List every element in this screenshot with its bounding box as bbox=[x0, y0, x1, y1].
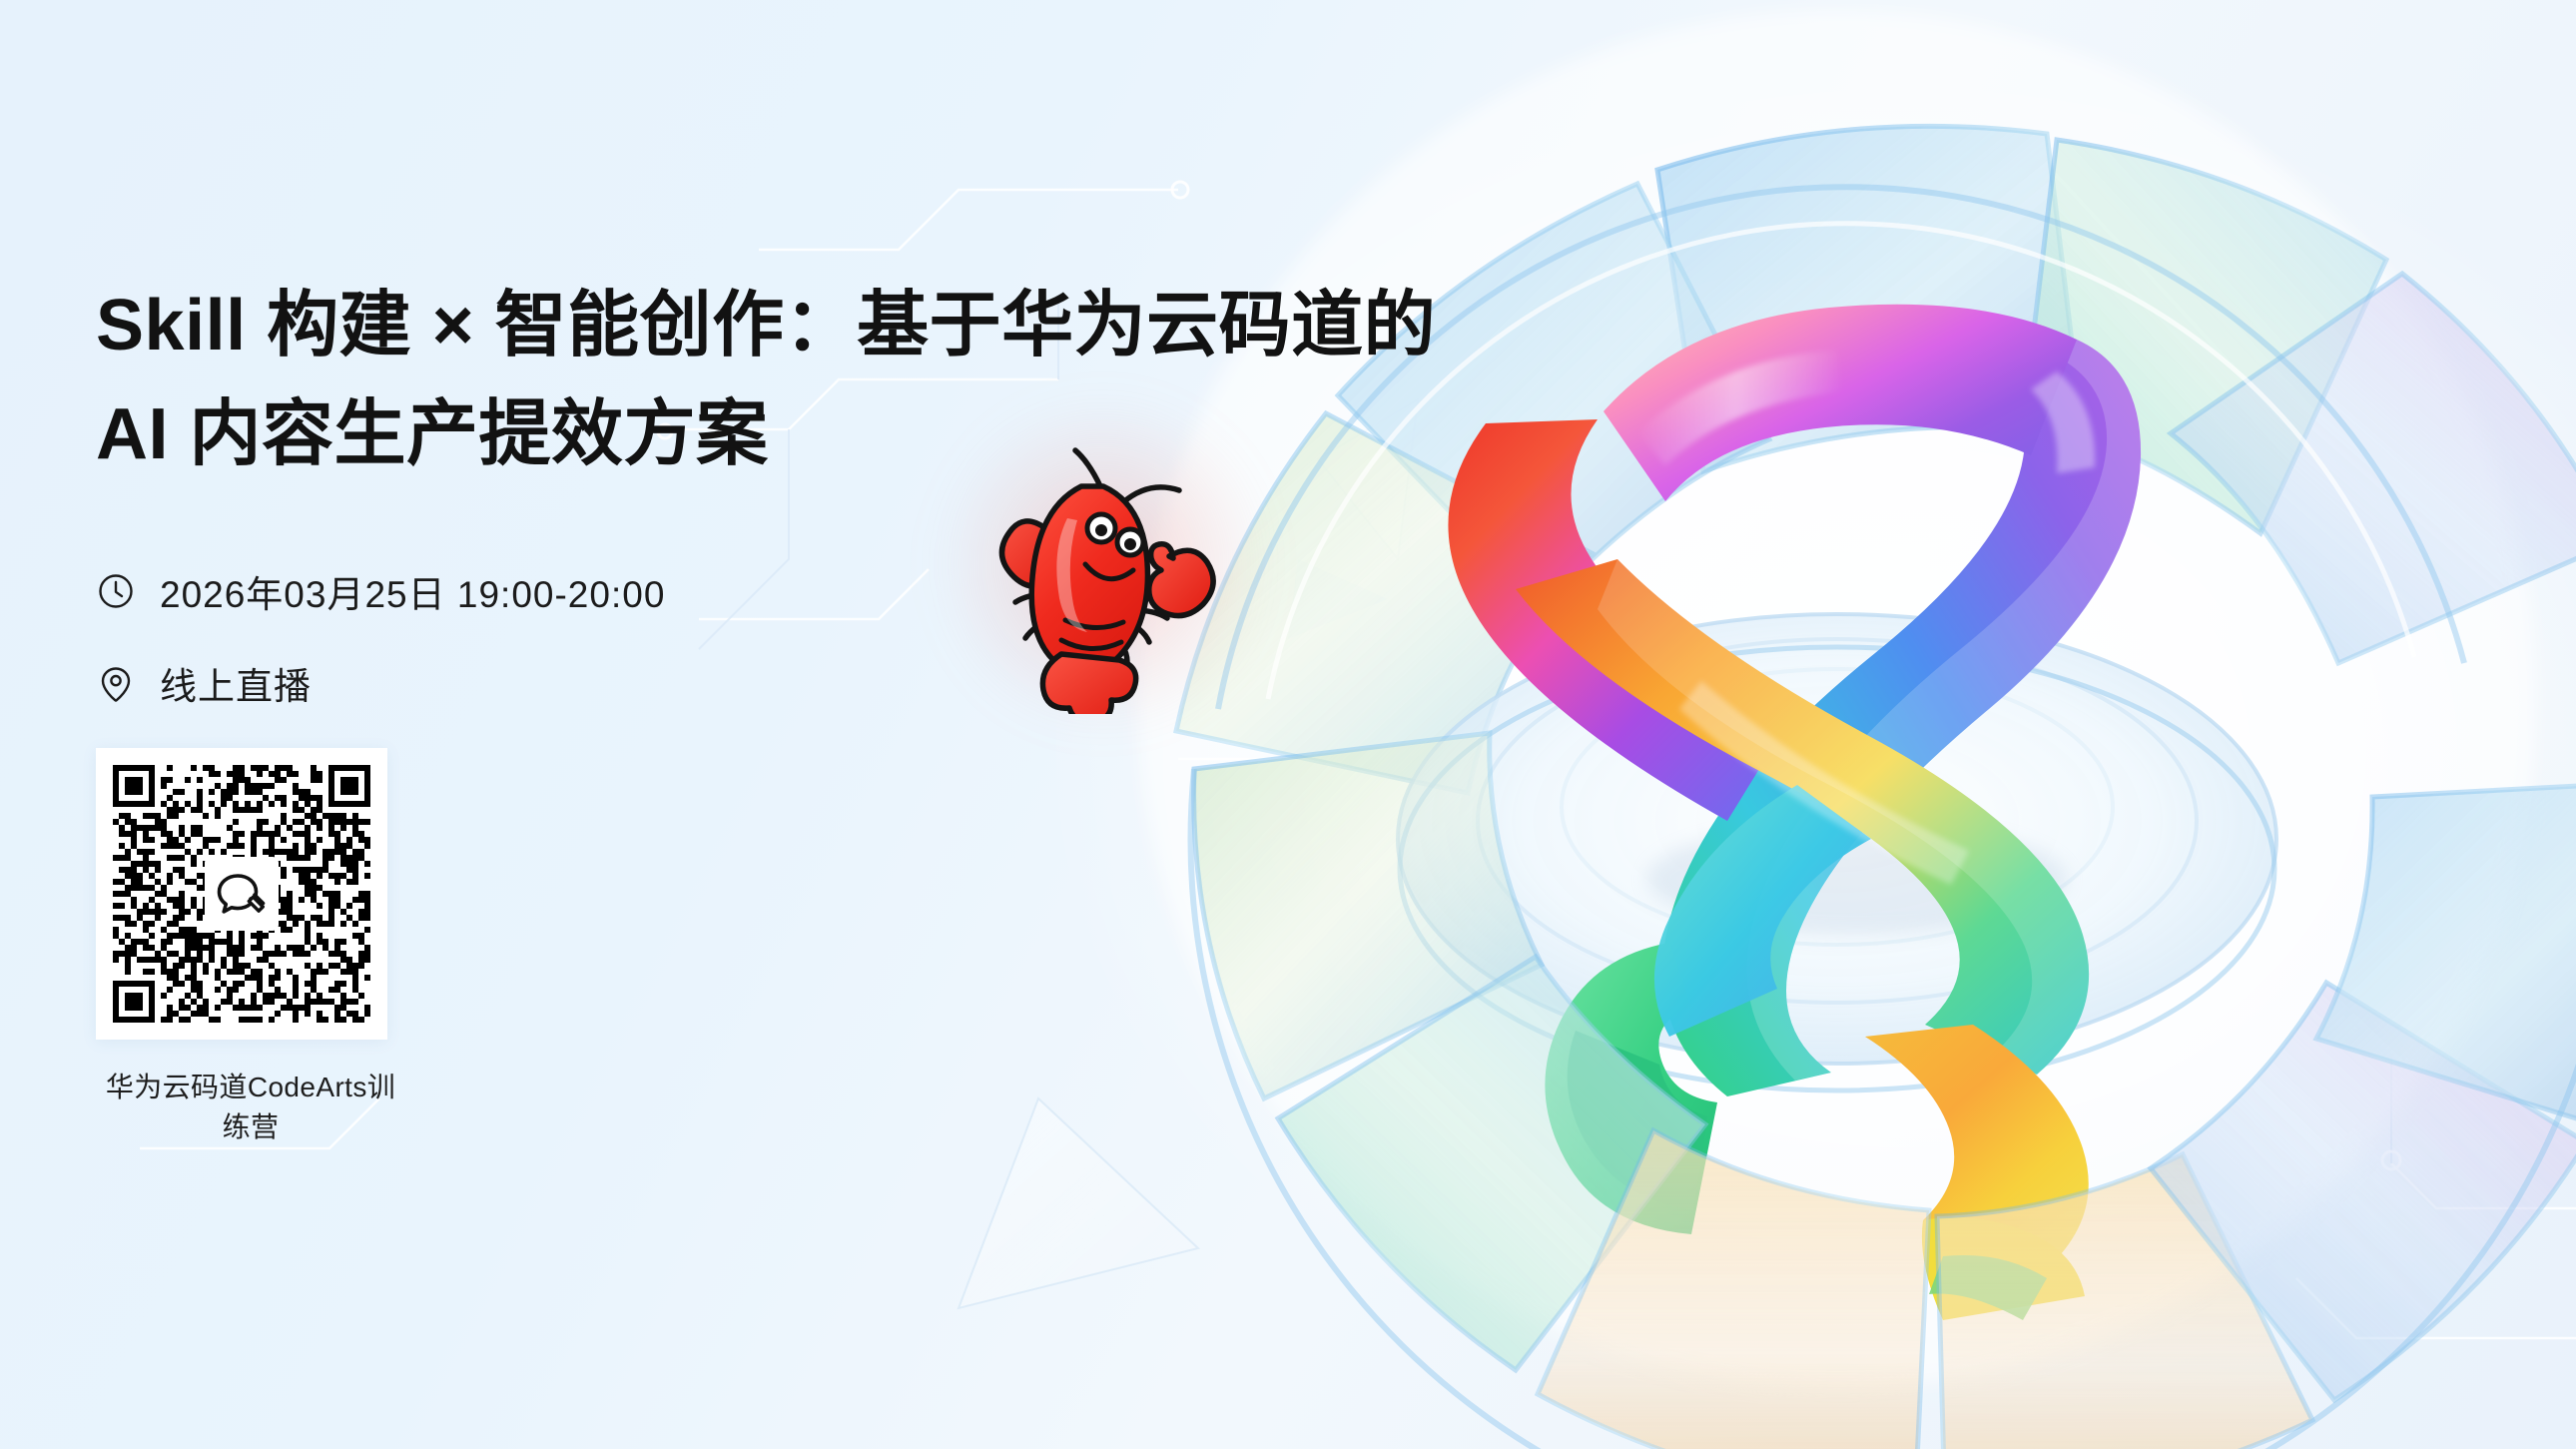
event-meta: 2026年03月25日 19:00-20:00 线上直播 bbox=[96, 564, 1424, 710]
event-location-row: 线上直播 bbox=[96, 656, 1424, 710]
qr-code[interactable] bbox=[96, 748, 387, 1040]
title-line-1: Skill 构建 × 智能创作：基于华为云码道的 bbox=[96, 272, 1424, 380]
page-title: Skill 构建 × 智能创作：基于华为云码道的 AI 内容生产提效方案 bbox=[96, 272, 1424, 490]
wechat-chat-bubble-icon bbox=[205, 857, 279, 931]
banner-content: Skill 构建 × 智能创作：基于华为云码道的 AI 内容生产提效方案 202… bbox=[96, 272, 1424, 1145]
title-line-2: AI 内容生产提效方案 bbox=[96, 380, 1424, 489]
qr-block: 华为云码道CodeArts训练营 bbox=[96, 748, 1424, 1145]
event-location-text: 线上直播 bbox=[160, 656, 312, 710]
event-datetime-row: 2026年03月25日 19:00-20:00 bbox=[96, 564, 1424, 618]
event-datetime-text: 2026年03月25日 19:00-20:00 bbox=[160, 564, 665, 618]
qr-caption: 华为云码道CodeArts训练营 bbox=[96, 1066, 405, 1145]
clock-icon bbox=[96, 571, 136, 611]
event-promo-banner: Skill 构建 × 智能创作：基于华为云码道的 AI 内容生产提效方案 202… bbox=[0, 0, 2576, 1449]
location-pin-icon bbox=[96, 663, 136, 703]
